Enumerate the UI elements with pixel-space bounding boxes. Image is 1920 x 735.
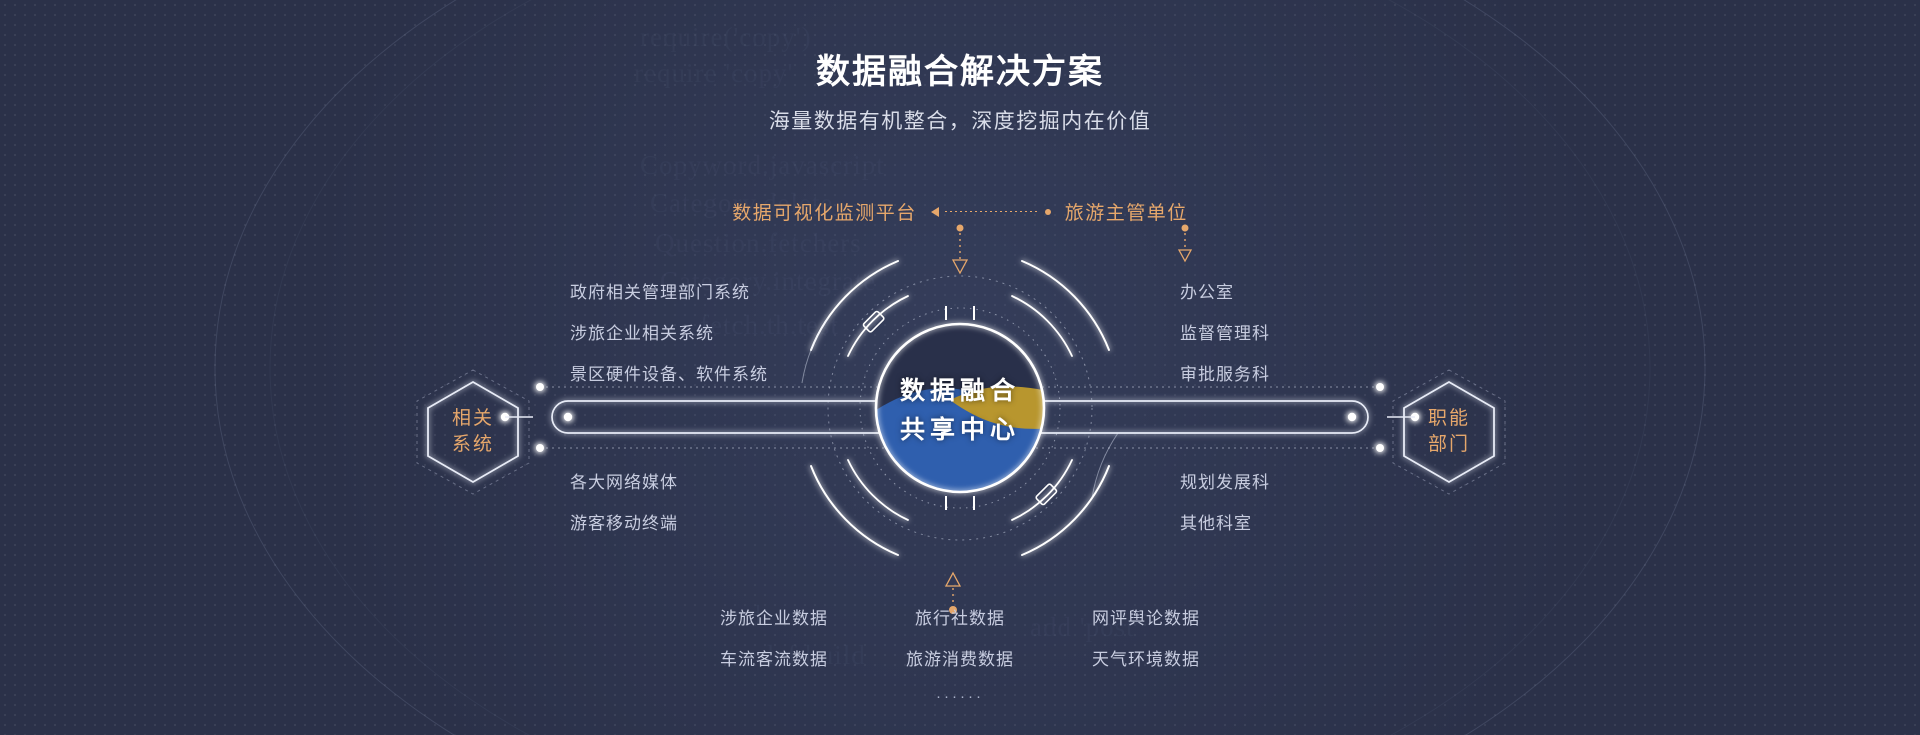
- center-hub[interactable]: 数据融合 共享中心: [790, 238, 1130, 578]
- grid-cell: 网评舆论数据: [1076, 604, 1216, 629]
- ghost-code-text: Copyword.javascript: [640, 150, 885, 181]
- hexagon-label-line2: 部门: [1428, 432, 1470, 458]
- dotted-arrow-icon: [931, 207, 1051, 217]
- list-item: 各大网络媒体: [570, 468, 678, 497]
- list-item: 游客移动终端: [570, 509, 678, 538]
- list-item: 办公室: [1180, 278, 1270, 307]
- hexagon-label-line1: 相关: [452, 406, 494, 432]
- infographic-canvas: require('copy') require 'copy' Copyword.…: [0, 0, 1920, 735]
- grid-ellipsis: ······: [936, 688, 984, 705]
- list-item: 涉旅企业相关系统: [570, 319, 768, 348]
- hexagon-label-line2: 系统: [452, 432, 494, 458]
- center-label-line2: 共享中心: [900, 410, 1020, 446]
- bottom-data-grid: 涉旅企业数据 旅行社数据 网评舆论数据 车流客流数据 旅游消费数据 天气环境数据…: [0, 604, 1920, 705]
- list-item: 其他科室: [1180, 509, 1270, 538]
- dotted-line: [945, 211, 1039, 212]
- list-item: 监督管理科: [1180, 319, 1270, 348]
- grid-cell: 涉旅企业数据: [704, 604, 844, 629]
- page-title: 数据融合解决方案: [0, 44, 1920, 93]
- list-item: 政府相关管理部门系统: [570, 278, 768, 307]
- grid-row: 车流客流数据 旅游消费数据 天气环境数据: [704, 645, 1216, 670]
- arrow-left-icon: [931, 207, 939, 217]
- list-left-lower: 各大网络媒体 游客移动终端: [570, 468, 678, 550]
- grid-row: 涉旅企业数据 旅行社数据 网评舆论数据: [704, 604, 1216, 629]
- list-item: 规划发展科: [1180, 468, 1270, 497]
- hexagon-related-systems[interactable]: 相关 系统: [414, 368, 532, 496]
- center-label-line1: 数据融合: [900, 371, 1020, 407]
- list-item: 审批服务科: [1180, 360, 1270, 389]
- hexagon-label: 相关 系统: [414, 368, 532, 496]
- label-visualization-platform[interactable]: 数据可视化监测平台: [732, 198, 917, 225]
- hexagon-label-line1: 职能: [1428, 406, 1470, 432]
- list-left-upper: 政府相关管理部门系统 涉旅企业相关系统 景区硬件设备、软件系统: [570, 278, 768, 401]
- top-links-row: 数据可视化监测平台 旅游主管单位: [0, 198, 1920, 225]
- grid-cell: 旅行社数据: [890, 604, 1030, 629]
- list-right-lower: 规划发展科 其他科室: [1180, 468, 1270, 550]
- dot-endpoint-icon: [1045, 209, 1051, 215]
- grid-cell: 旅游消费数据: [890, 645, 1030, 670]
- grid-cell: 天气环境数据: [1076, 645, 1216, 670]
- hexagon-label: 职能 部门: [1390, 368, 1508, 496]
- arrow-down-right: [1179, 225, 1191, 262]
- page-subtitle: 海量数据有机整合，深度挖掘内在价值: [0, 105, 1920, 135]
- center-hub-label: 数据融合 共享中心: [790, 238, 1130, 578]
- label-tourism-authority[interactable]: 旅游主管单位: [1065, 198, 1188, 225]
- grid-cell: 车流客流数据: [704, 645, 844, 670]
- list-right-upper: 办公室 监督管理科 审批服务科: [1180, 278, 1270, 401]
- hexagon-functional-departments[interactable]: 职能 部门: [1390, 368, 1508, 496]
- list-item: 景区硬件设备、软件系统: [570, 360, 768, 389]
